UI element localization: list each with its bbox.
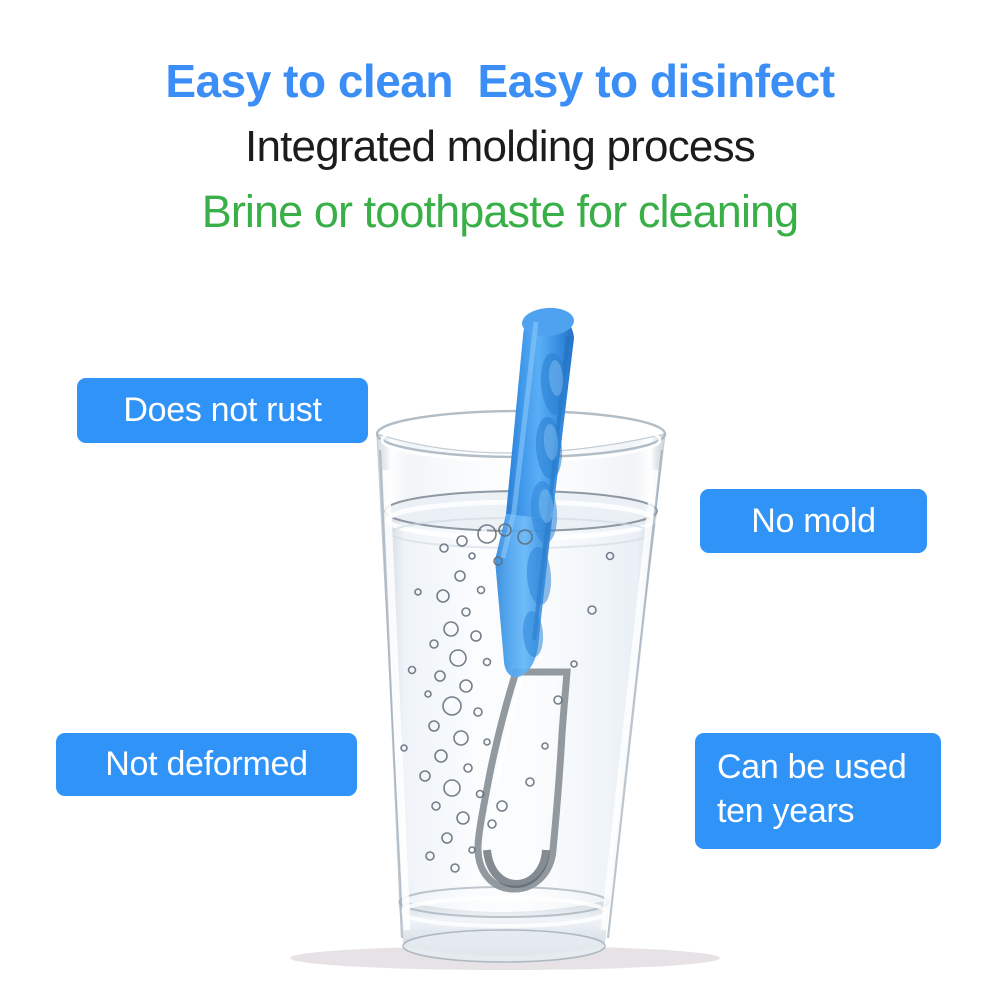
feature-badge-not-deformed: Not deformed: [56, 733, 357, 796]
tongue-scraper-head: [478, 672, 567, 889]
scraper-loop-outline: [478, 672, 567, 889]
water-volume: [385, 512, 657, 954]
scraper-highlight: [497, 678, 522, 784]
glass-right-highlight: [604, 470, 655, 930]
glass-left-highlight: [386, 470, 407, 930]
water-surface: [385, 491, 657, 531]
handle-upper-segment: [506, 313, 574, 520]
water-bubble-highlights: [446, 528, 487, 788]
handle-grip-highlights: [538, 360, 564, 524]
glass-base-top-line: [400, 887, 608, 917]
glass-tumbler: [377, 411, 665, 962]
feature-badge-no-mold: No mold: [700, 489, 927, 553]
glass-rim-outer: [377, 411, 665, 457]
feature-badge-can-be-used-ten-years: Can be used ten years: [695, 733, 941, 849]
water-meniscus-line: [385, 491, 657, 531]
glass-left-edge: [380, 450, 402, 938]
handle-grip-indents: [521, 352, 569, 657]
headline-primary: Easy to clean Easy to disinfect: [0, 56, 1000, 108]
glass-rim-inner: [382, 420, 660, 460]
feature-badge-does-not-rust: Does not rust: [77, 378, 368, 443]
glass-base-sheen: [402, 898, 606, 926]
glass-right-edge: [608, 450, 662, 938]
glass-body: [377, 434, 665, 954]
water-highlight-band: [388, 502, 654, 538]
product-infographic: Easy to clean Easy to disinfect Integrat…: [0, 0, 1000, 1000]
scraper-bottom-edge: [487, 850, 546, 884]
handle-top-cap: [521, 306, 575, 338]
glass-thick-base: [398, 900, 610, 956]
handle-lower-segment: [495, 514, 552, 677]
headline-block: Easy to clean Easy to disinfect Integrat…: [0, 56, 1000, 242]
water-secondary-band: [391, 518, 651, 548]
handle-right-shade: [534, 336, 568, 640]
headline-tertiary: Brine or toothpaste for cleaning: [0, 182, 1000, 243]
handle-left-highlight: [503, 322, 536, 558]
scraper-loop-fill: [487, 676, 559, 880]
glass-surface-shadow: [290, 946, 720, 970]
headline-secondary: Integrated molding process: [0, 114, 1000, 180]
glass-base-ellipse: [403, 930, 605, 962]
tongue-cleaner-handle: [495, 306, 575, 677]
water-bubbles: [401, 524, 614, 872]
